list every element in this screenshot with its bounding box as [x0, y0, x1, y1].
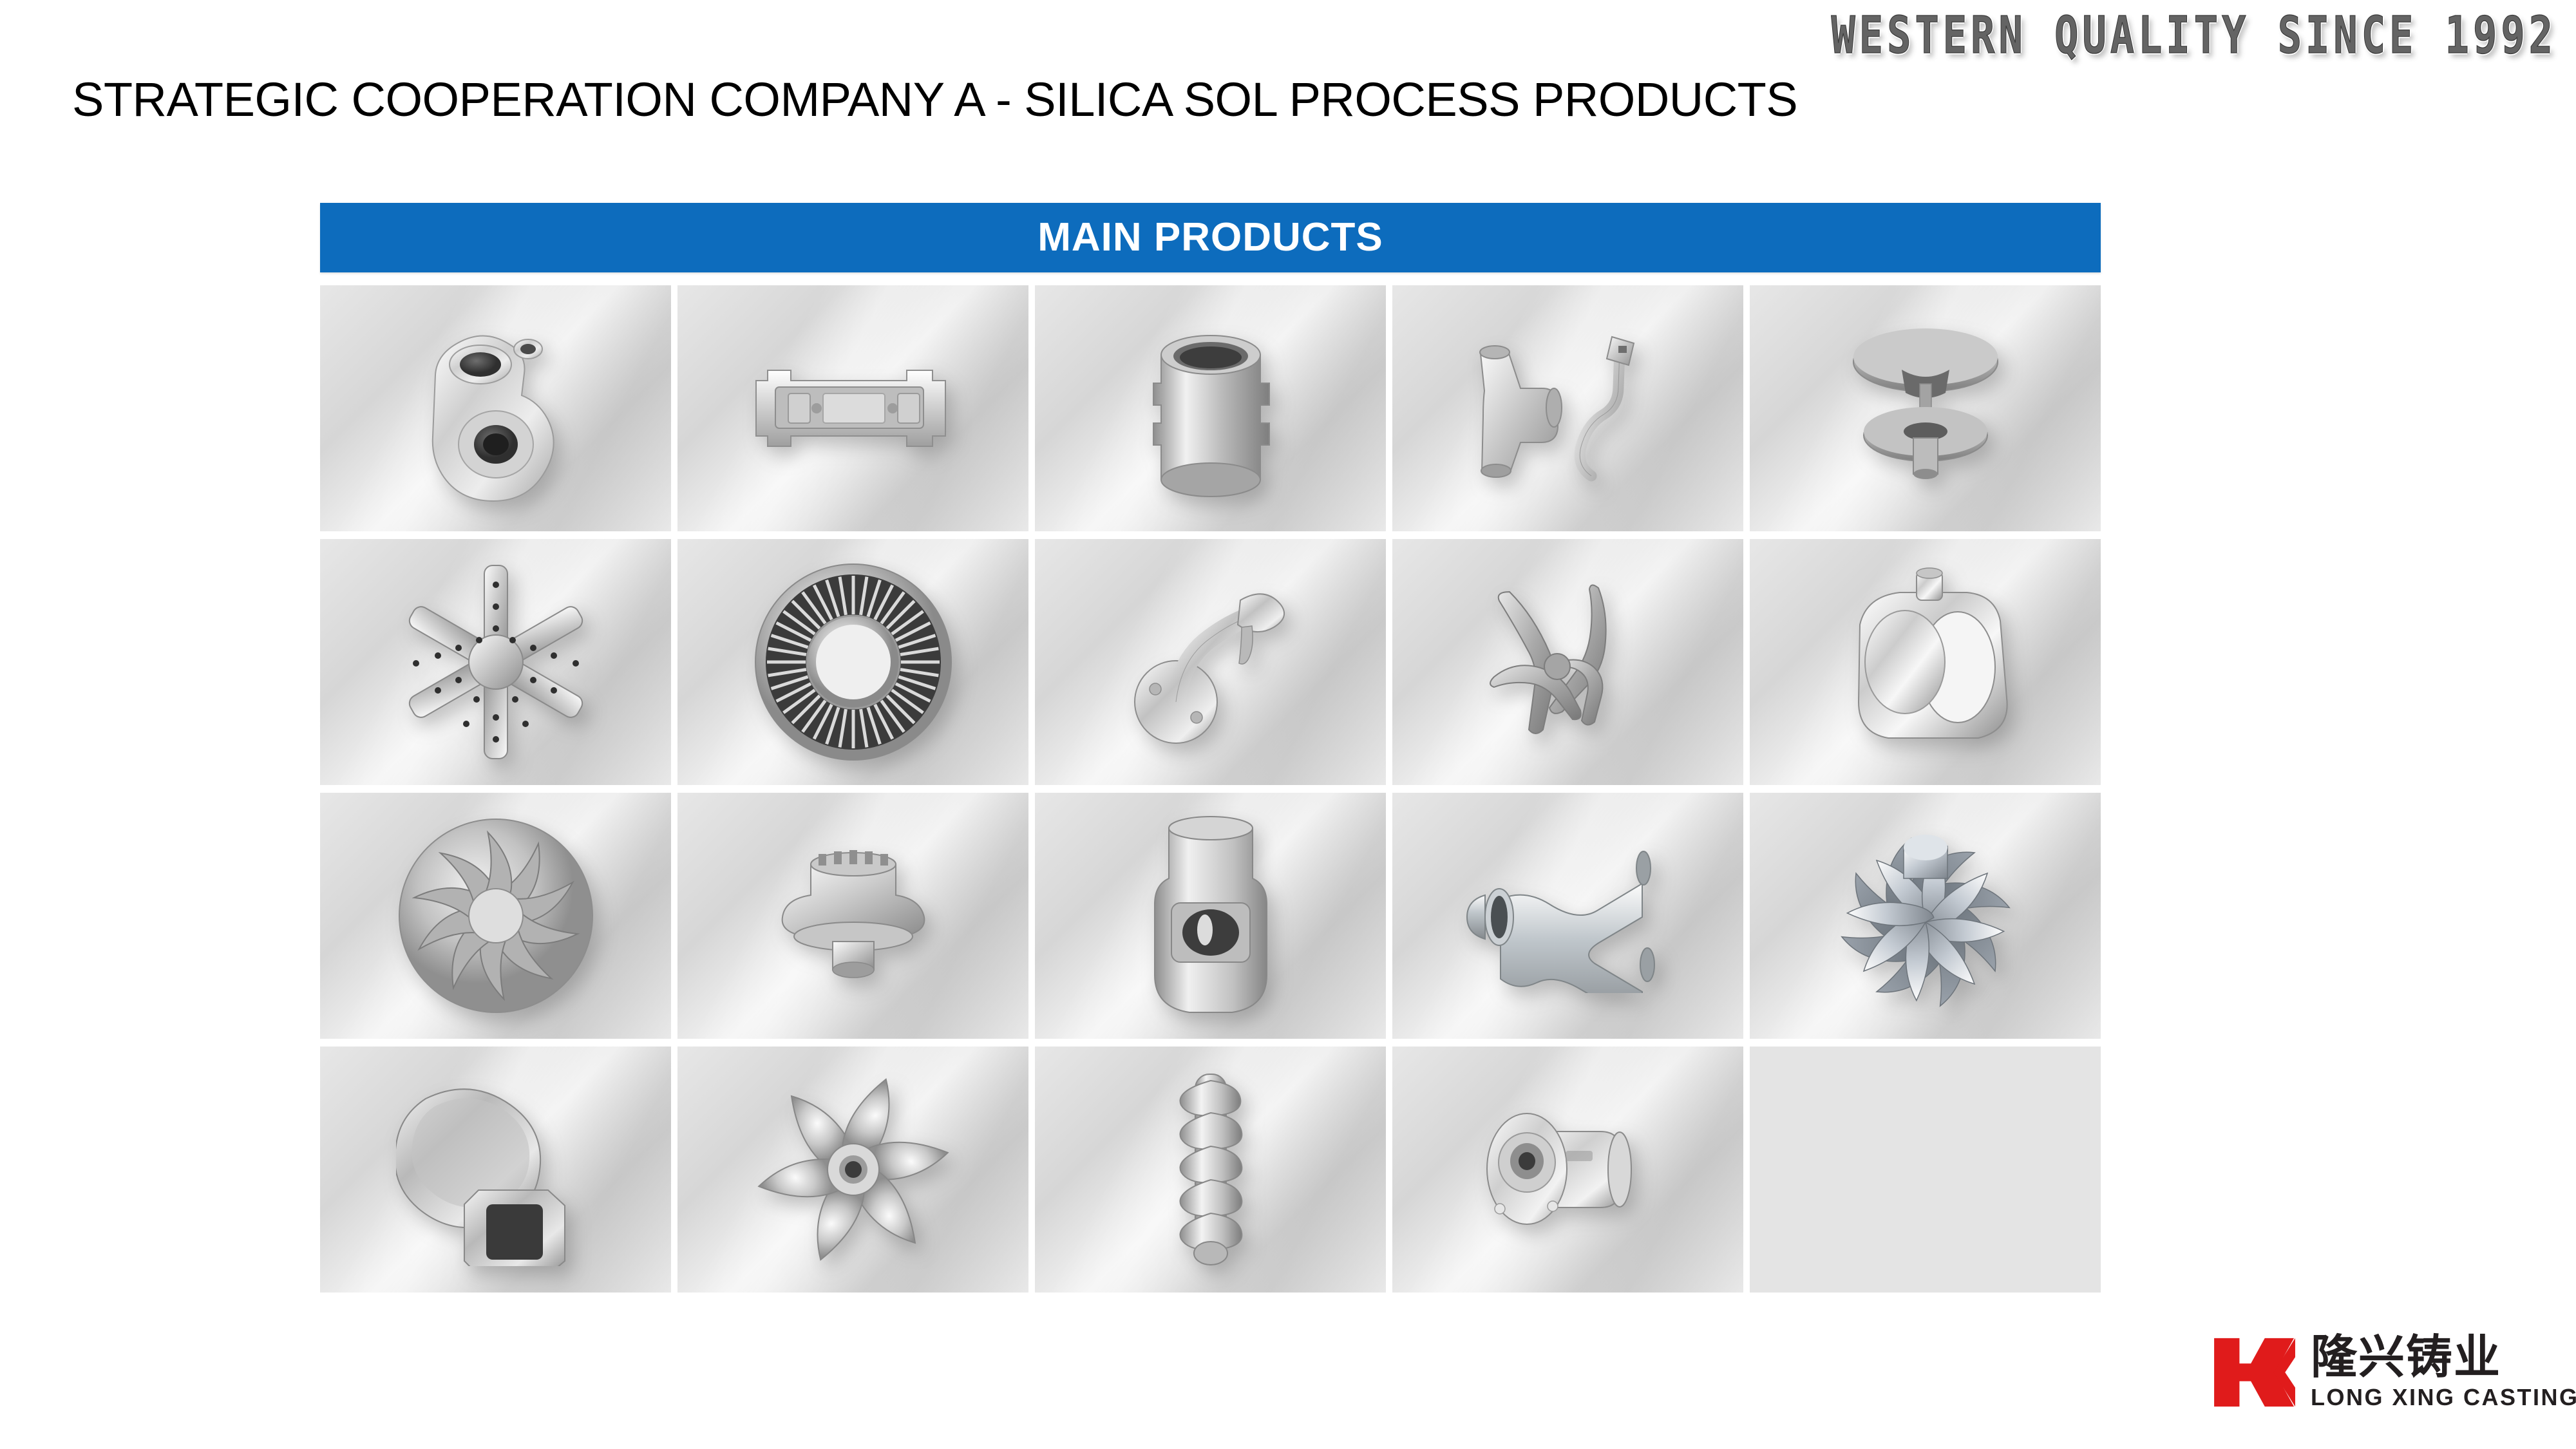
- product-cell-pump-volute-housing-casting[interactable]: [320, 285, 671, 531]
- disc-valve-assembly-image: [1819, 325, 2032, 492]
- pipe-coupling-image: [1130, 315, 1291, 502]
- product-cell-rail-bracket-casting[interactable]: [677, 285, 1028, 531]
- page-title: STRATEGIC COOPERATION COMPANY A - SILICA…: [72, 76, 1797, 124]
- product-cell-compressor-wheel-casting[interactable]: [1750, 793, 2101, 1039]
- volute-casing-square-outlet-image: [396, 1073, 596, 1266]
- screw-auger-rotor-image: [1146, 1066, 1275, 1273]
- product-cell-volute-casing-square-outlet[interactable]: [320, 1046, 671, 1293]
- product-cell-pipe-coupling-fitting-casting[interactable]: [1035, 285, 1386, 531]
- product-cell-screw-auger-rotor-casting[interactable]: [1035, 1046, 1386, 1293]
- product-cell-disc-valve-assembly-casting[interactable]: [1750, 285, 2101, 531]
- perforated-star-plate-image: [393, 559, 599, 765]
- turbine-nozzle-ring-image: [747, 556, 960, 768]
- agitator-claw-blade-image: [1475, 569, 1662, 755]
- product-cell-handrail-wall-bracket-casting[interactable]: [1035, 539, 1386, 785]
- company-logo: 隆兴铸业 LONG XING CASTING: [2211, 1334, 2576, 1410]
- product-cell-empty-slot: [1750, 1046, 2101, 1293]
- radial-turbine-wheel-image: [393, 813, 599, 1019]
- logo-chinese-name: 隆兴铸业: [2311, 1334, 2576, 1381]
- product-cell-turbine-nozzle-ring-casting[interactable]: [677, 539, 1028, 785]
- product-cell-perforated-star-plate-casting[interactable]: [320, 539, 671, 785]
- product-cell-open-impeller-casting[interactable]: [677, 1046, 1028, 1293]
- elbow-fitting-image: [1465, 328, 1671, 489]
- pump-volute-housing-image: [399, 312, 592, 505]
- product-cell-flanged-bearing-housing-casting[interactable]: [1392, 1046, 1743, 1293]
- product-image-grid: [320, 285, 2101, 1293]
- handrail-bracket-image: [1114, 565, 1307, 759]
- logo-text-block: 隆兴铸业 LONG XING CASTING: [2311, 1334, 2576, 1409]
- panel-header-label: MAIN PRODUCTS: [1037, 218, 1383, 258]
- western-quality-watermark: WESTERN QUALITY SINCE 1992: [1777, 0, 2557, 73]
- valve-body-image: [1137, 813, 1285, 1019]
- main-products-panel: MAIN PRODUCTS: [320, 203, 2101, 1293]
- product-cell-agitator-claw-blade-casting[interactable]: [1392, 539, 1743, 785]
- panel-header-bar: MAIN PRODUCTS: [320, 203, 2101, 272]
- y-branch-manifold-image: [1462, 838, 1674, 993]
- product-cell-elbow-fitting-and-bent-bracket[interactable]: [1392, 285, 1743, 531]
- valve-body-ring-collar-image: [1823, 565, 2029, 759]
- product-cell-y-branch-manifold-casting[interactable]: [1392, 793, 1743, 1039]
- logo-english-name: LONG XING CASTING: [2311, 1386, 2576, 1409]
- compressor-wheel-image: [1823, 816, 2029, 1016]
- impeller-hub-image: [757, 845, 950, 987]
- long-xing-lx-mark-icon: [2211, 1334, 2300, 1410]
- slide-root: WESTERN QUALITY SINCE 1992 STRATEGIC COO…: [0, 0, 2576, 1449]
- product-cell-radial-turbine-wheel-casting[interactable]: [320, 793, 671, 1039]
- product-cell-valve-body-ring-collar-casting[interactable]: [1750, 539, 2101, 785]
- product-cell-impeller-hub-casting[interactable]: [677, 793, 1028, 1039]
- flanged-bearing-housing-image: [1465, 1095, 1671, 1244]
- product-cell-valve-body-casting[interactable]: [1035, 793, 1386, 1039]
- open-impeller-image: [750, 1066, 956, 1273]
- rail-bracket-image: [747, 347, 960, 469]
